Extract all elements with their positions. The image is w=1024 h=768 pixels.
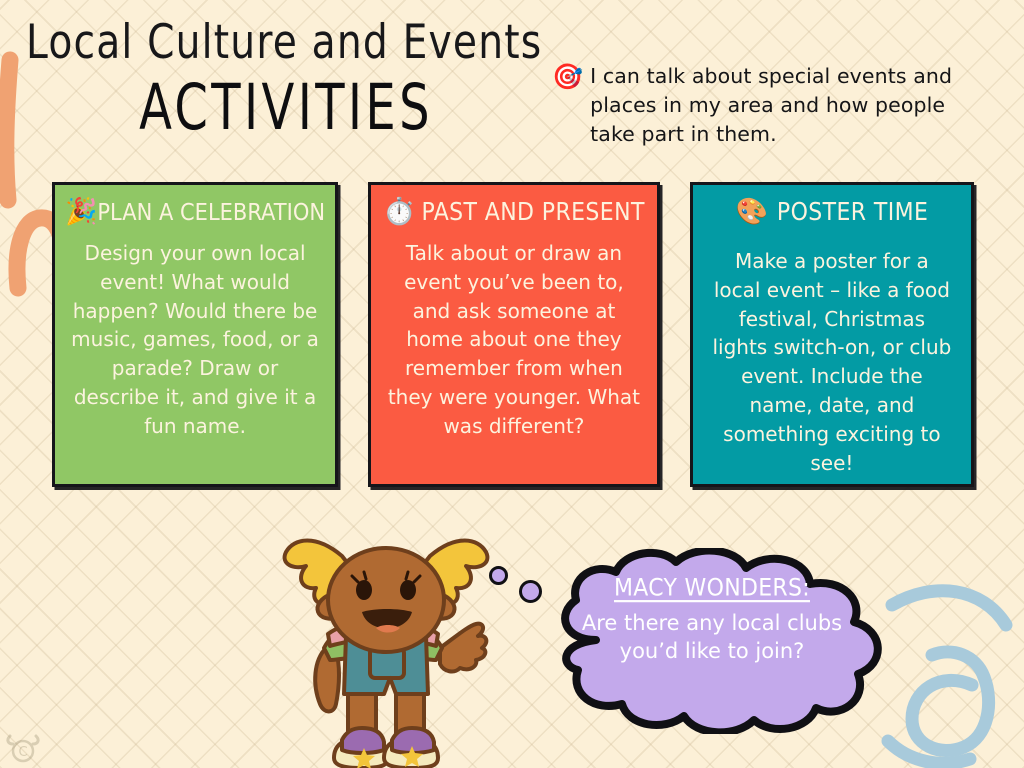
learning-objective-text: I can talk about special events and plac… (590, 62, 970, 149)
page-title: Local Culture and Events (26, 18, 536, 68)
page-subtitle: ACTIVITIES (36, 76, 535, 140)
thought-bubble-speaker: MACY WONDERS: (614, 575, 810, 603)
card-title: PLAN A CELEBRATION (97, 199, 325, 226)
card-header: 🎨 POSTER TIME (705, 199, 959, 225)
activity-card-list: 🎉 PLAN A CELEBRATION Design your own loc… (52, 182, 974, 487)
thought-bubble-speaker-wrap: MACY WONDERS: (576, 576, 848, 601)
card-body-text: Talk about or draw an event you’ve been … (383, 239, 645, 441)
card-body-text: Make a poster for a local event – like a… (705, 247, 959, 477)
activity-card-plan[interactable]: 🎉 PLAN A CELEBRATION Design your own loc… (52, 182, 338, 487)
activity-card-poster[interactable]: 🎨 POSTER TIME Make a poster for a local … (690, 182, 974, 487)
svg-text:C: C (18, 745, 27, 760)
card-header: 🎉 PLAN A CELEBRATION (65, 199, 321, 225)
stopwatch-icon: ⏱️ (383, 199, 415, 225)
thought-bubble-dot-small (489, 566, 508, 585)
learning-objective: 🎯 I can talk about special events and pl… (552, 62, 970, 149)
card-body-text: Design your own local event! What would … (67, 239, 323, 441)
party-popper-icon: 🎉 (65, 199, 97, 225)
card-title: PAST AND PRESENT (421, 198, 644, 226)
slide-canvas: Local Culture and Events ACTIVITIES 🎯 I … (0, 0, 1024, 768)
artist-palette-icon: 🎨 (736, 199, 768, 225)
card-title: POSTER TIME (777, 198, 928, 226)
target-dart-icon: 🎯 (552, 63, 583, 91)
mascot-macy-the-moose (272, 508, 500, 768)
header-block: Local Culture and Events ACTIVITIES (26, 18, 546, 127)
card-header: ⏱️ PAST AND PRESENT (383, 199, 645, 225)
thought-bubble-content: MACY WONDERS: Are there any local clubs … (576, 576, 848, 665)
thought-bubble: MACY WONDERS: Are there any local clubs … (524, 548, 896, 734)
activity-card-past[interactable]: ⏱️ PAST AND PRESENT Talk about or draw a… (368, 182, 660, 487)
copyright-watermark: C (4, 732, 42, 764)
thought-bubble-question: Are there any local clubs you’d like to … (576, 610, 848, 665)
